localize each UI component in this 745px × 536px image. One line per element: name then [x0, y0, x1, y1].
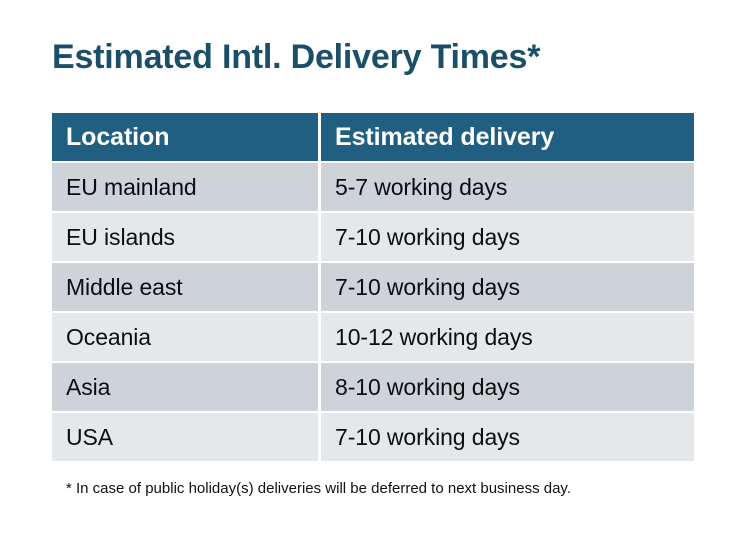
cell-location: USA — [52, 413, 318, 461]
cell-delivery: 7-10 working days — [321, 263, 694, 311]
cell-location: EU islands — [52, 213, 318, 261]
table-header-row: Location Estimated delivery — [52, 113, 694, 161]
cell-delivery: 7-10 working days — [321, 413, 694, 461]
table-row: EU mainland 5-7 working days — [52, 163, 694, 211]
table-row: USA 7-10 working days — [52, 413, 694, 461]
cell-location: EU mainland — [52, 163, 318, 211]
delivery-times-table: Location Estimated delivery EU mainland … — [49, 111, 697, 463]
cell-delivery: 10-12 working days — [321, 313, 694, 361]
table-row: EU islands 7-10 working days — [52, 213, 694, 261]
cell-location: Asia — [52, 363, 318, 411]
page-title: Estimated Intl. Delivery Times* — [52, 36, 540, 78]
table-body: EU mainland 5-7 working days EU islands … — [52, 163, 694, 461]
column-header-delivery: Estimated delivery — [321, 113, 694, 161]
delivery-times-card: Estimated Intl. Delivery Times* Location… — [0, 0, 745, 536]
cell-location: Oceania — [52, 313, 318, 361]
table-row: Middle east 7-10 working days — [52, 263, 694, 311]
cell-delivery: 8-10 working days — [321, 363, 694, 411]
cell-delivery: 5-7 working days — [321, 163, 694, 211]
table-header: Location Estimated delivery — [52, 113, 694, 161]
table-row: Asia 8-10 working days — [52, 363, 694, 411]
footnote-text: * In case of public holiday(s) deliverie… — [66, 479, 571, 499]
cell-location: Middle east — [52, 263, 318, 311]
table-row: Oceania 10-12 working days — [52, 313, 694, 361]
cell-delivery: 7-10 working days — [321, 213, 694, 261]
column-header-location: Location — [52, 113, 318, 161]
